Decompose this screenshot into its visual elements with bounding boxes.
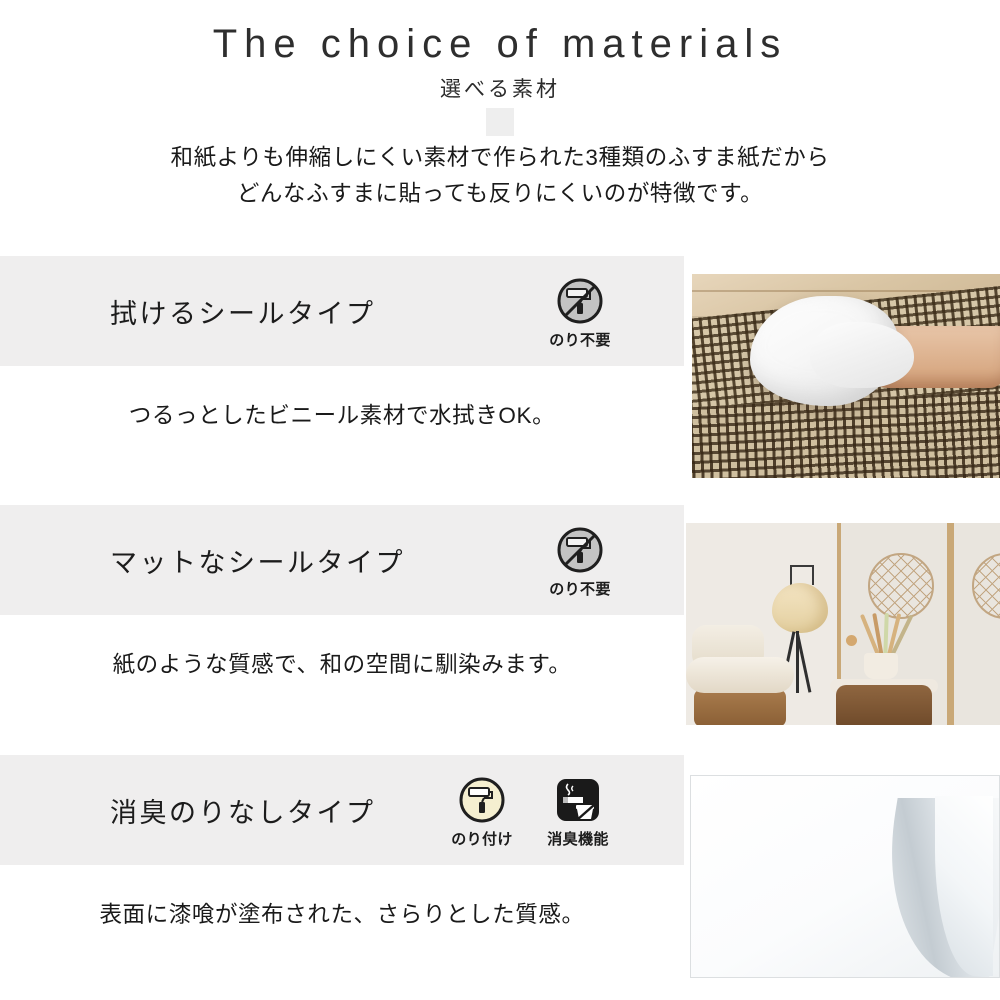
badge-no-paste: のり不要 (541, 525, 619, 599)
badge-with-paste-label: のり付け (443, 828, 521, 849)
photo-lamp-leg (796, 631, 799, 693)
page-title: The choice of materials (0, 0, 1000, 67)
section-2-title: マットなシールタイプ (0, 541, 405, 580)
no-paste-roller-icon (555, 525, 605, 575)
section-1-photo (692, 274, 1000, 478)
badge-no-paste-label: のり不要 (541, 578, 619, 599)
header-lead-text: 和紙よりも伸縮しにくい素材で作られた3種類のふすま紙だから どんなふすまに貼って… (0, 140, 1000, 213)
no-paste-roller-icon (555, 276, 605, 326)
header-divider (486, 108, 514, 136)
section-1-description: つるっとしたビニール素材で水拭きOK。 (0, 398, 684, 430)
product-feature-page: The choice of materials 選べる素材 和紙よりも伸縮しにく… (0, 0, 1000, 1000)
section-2-description: 紙のような質感で、和の空間に馴染みます。 (0, 647, 684, 679)
section-3-badges: のり付け 消臭機能 (443, 775, 617, 849)
photo-lattice-circle-1 (868, 553, 934, 619)
section-1-badges: のり不要 (541, 276, 619, 350)
photo-plant-pot (864, 653, 898, 679)
photo-fusuma-panel-2 (950, 523, 1000, 725)
photo-towel-fold (810, 322, 914, 388)
lead-line-2: どんなふすまに貼っても反りにくいのが特徴です。 (0, 176, 1000, 212)
photo-lamp-frame (790, 565, 814, 585)
badge-deodorize-label: 消臭機能 (539, 828, 617, 849)
badge-deodorize: 消臭機能 (539, 775, 617, 849)
section-2-badges: のり不要 (541, 525, 619, 599)
section-3-title: 消臭のりなしタイプ (0, 791, 376, 830)
badge-with-paste: のり付け (443, 775, 521, 849)
photo-chair-seat (686, 657, 794, 693)
photo-door-knob (846, 635, 857, 646)
photo-paper-lantern-lamp (772, 583, 828, 633)
badge-no-paste-label: のり不要 (541, 329, 619, 350)
section-3-description: 表面に漆喰が塗布された、さらりとした質感。 (0, 897, 684, 929)
section-2-photo (686, 523, 1000, 725)
page-subtitle: 選べる素材 (0, 67, 1000, 102)
lead-line-1: 和紙よりも伸縮しにくい素材で作られた3種類のふすま紙だから (0, 140, 1000, 176)
deodorize-icon (553, 775, 603, 825)
photo-side-table (836, 685, 932, 725)
photo-chair-base (694, 689, 786, 725)
section-1-title: 拭けるシールタイプ (0, 292, 376, 331)
section-3-photo (690, 775, 1000, 978)
badge-no-paste: のり不要 (541, 276, 619, 350)
page-header: The choice of materials 選べる素材 (0, 0, 1000, 102)
paste-roller-icon (457, 775, 507, 825)
